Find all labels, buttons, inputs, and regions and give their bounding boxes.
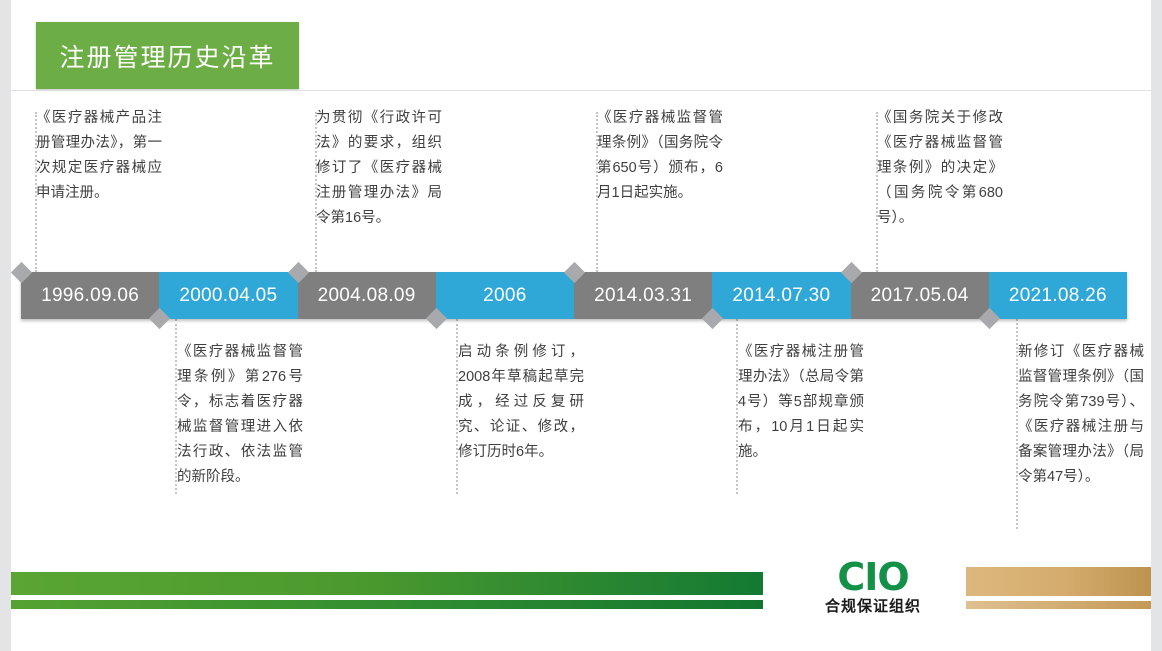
slide-canvas [11, 0, 1151, 651]
timeline-date-3: 2004.08.09 [318, 285, 416, 307]
timeline-segment-5[interactable]: 2014.03.31 [574, 272, 712, 319]
note-top-1: 《医疗器械产品注册管理办法》，第一次规定医疗器械应申请注册。 [36, 106, 162, 206]
footer-accent-bar-green-thin [11, 600, 763, 609]
note-bottom-2: 启动条例修订，2008年草稿起草完成，经过反复研究、论证、修改，修订历时6年。 [458, 340, 584, 465]
slide-left-border [0, 0, 11, 651]
timeline-segment-7[interactable]: 2017.05.04 [851, 272, 989, 319]
note-top-3: 《医疗器械监督管理条例》（国务院令第650号）颁布，6月1日起实施。 [597, 106, 723, 206]
note-top-4: 《国务院关于修改《医疗器械监督管理条例》的决定》（国务院令第680号）。 [877, 106, 1003, 231]
timeline-date-5: 2014.03.31 [594, 285, 692, 307]
timeline-date-2: 2000.04.05 [179, 285, 277, 307]
note-top-2: 为贯彻《行政许可法》的要求，组织修订了《医疗器械注册管理办法》局令第16号。 [316, 106, 442, 231]
connector-top-4 [876, 112, 878, 272]
logo-subtitle: 合规保证组织 [825, 598, 921, 616]
cio-logo: CIO 合规保证组织 [808, 556, 938, 618]
note-bottom-1: 《医疗器械监督管理条例》第276号令，标志着医疗器械监督管理进入依法行政、依法监… [177, 340, 303, 490]
timeline-date-8: 2021.08.26 [1009, 285, 1107, 307]
timeline-segment-8[interactable]: 2021.08.26 [989, 272, 1127, 319]
footer-accent-bar-green [11, 572, 763, 595]
slide-right-border [1151, 0, 1162, 651]
footer-accent-bar-tan-thin [966, 601, 1151, 609]
page-title: 注册管理历史沿革 [59, 38, 275, 74]
timeline-date-4: 2006 [483, 285, 526, 307]
logo-wordmark: CIO [837, 558, 908, 596]
timeline-bar: 1996.09.06 2000.04.05 2004.08.09 2006 20… [21, 272, 1127, 319]
timeline-date-6: 2014.07.30 [732, 285, 830, 307]
timeline-segment-1[interactable]: 1996.09.06 [21, 272, 159, 319]
connector-top-2 [315, 112, 317, 272]
timeline-segment-4[interactable]: 2006 [436, 272, 574, 319]
timeline-segment-6[interactable]: 2014.07.30 [712, 272, 850, 319]
timeline-segment-3[interactable]: 2004.08.09 [298, 272, 436, 319]
footer-accent-bar-tan [966, 567, 1151, 596]
slide-title-box: 注册管理历史沿革 [36, 22, 299, 89]
note-bottom-4: 新修订《医疗器械监督管理条例》（国务院令第739号）、《医疗器械注册与备案管理办… [1018, 340, 1144, 490]
header-divider [11, 90, 1151, 91]
timeline-segment-2[interactable]: 2000.04.05 [159, 272, 297, 319]
connector-top-3 [596, 112, 598, 272]
connector-top-1 [35, 112, 37, 272]
timeline-date-1: 1996.09.06 [41, 285, 139, 307]
timeline-date-7: 2017.05.04 [871, 285, 969, 307]
note-bottom-3: 《医疗器械注册管理办法》（总局令第4号）等5部规章颁布，10月1日起实施。 [738, 340, 864, 465]
